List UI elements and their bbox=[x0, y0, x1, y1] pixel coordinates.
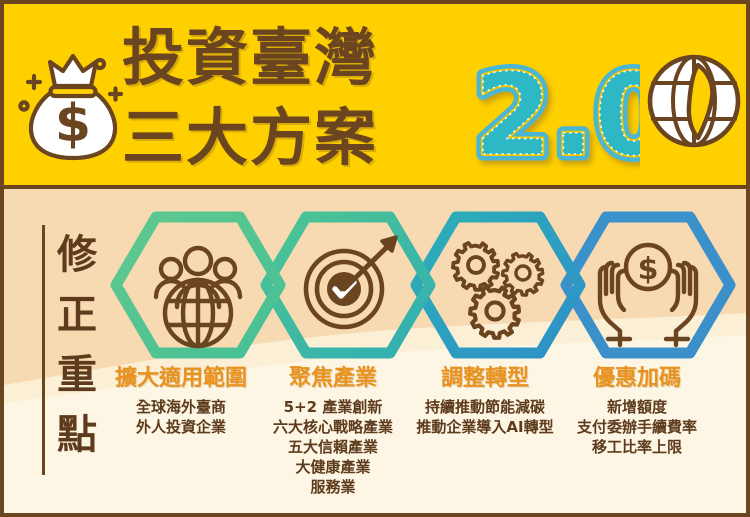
column-line: 支付委辦手續費率 bbox=[544, 417, 730, 437]
title-line-1: 投資臺灣 bbox=[122, 18, 378, 98]
svg-text:$: $ bbox=[638, 252, 659, 287]
globe-taiwan-icon bbox=[642, 48, 746, 154]
hexagon-item-transformation[interactable] bbox=[410, 211, 586, 359]
side-label-char-0: 修 bbox=[51, 225, 103, 285]
column-text-row: 擴大適用範圍 全球海外臺商 外人投資企業 聚焦產業 5+2 產業創新 六大核心戰… bbox=[82, 365, 742, 510]
column-line: 服務業 bbox=[240, 477, 426, 497]
version-badge: 2.0 2.0 2.0 2.0 bbox=[470, 54, 640, 174]
poster-header: $ 投資臺灣 三大方案 2.0 2.0 2.0 2.0 bbox=[4, 4, 746, 189]
money-bag-icon: $ bbox=[14, 42, 132, 162]
svg-text:$: $ bbox=[55, 94, 91, 154]
hexagon-item-expand-scope[interactable] bbox=[110, 211, 286, 359]
svg-text:2.0: 2.0 bbox=[474, 54, 640, 178]
hexagon-icon-row: $ bbox=[110, 211, 740, 361]
column-line: 大健康產業 bbox=[240, 457, 426, 477]
column-lines-3: 新增額度 支付委辦手續費率 移工比率上限 bbox=[544, 397, 730, 457]
column-line: 新增額度 bbox=[544, 397, 730, 417]
poster-body: 修 正 重 點 bbox=[4, 189, 746, 513]
hexagon-item-incentives[interactable]: $ bbox=[560, 211, 736, 359]
side-label-char-1: 正 bbox=[51, 285, 103, 345]
column-incentives: 優惠加碼 新增額度 支付委辦手續費率 移工比率上限 bbox=[544, 365, 730, 457]
header-title-block: 投資臺灣 三大方案 bbox=[122, 14, 482, 184]
column-line: 五大信賴產業 bbox=[240, 437, 426, 457]
column-line: 移工比率上限 bbox=[544, 437, 730, 457]
hexagon-item-focus-industry[interactable] bbox=[260, 211, 436, 359]
infographic-poster: $ 投資臺灣 三大方案 2.0 2.0 2.0 2.0 bbox=[0, 0, 750, 517]
title-line-2: 三大方案 bbox=[122, 98, 378, 178]
column-title-3: 優惠加碼 bbox=[544, 365, 730, 393]
